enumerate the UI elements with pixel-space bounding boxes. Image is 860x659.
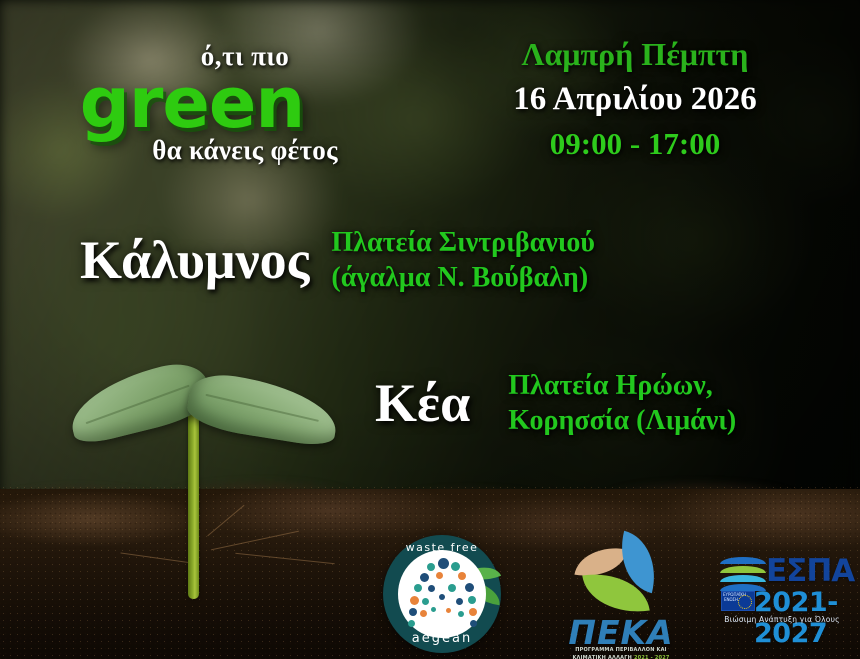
peka-subtitle: ΠΡΟΓΡΑΜΜΑ ΠΕΡΙΒΑΛΛΟΝ ΚΑΙ ΚΛΙΜΑΤΙΚΗ ΑΛΛΑΓ… [555,647,687,659]
peka-subtitle-years: 2021 - 2027 [634,655,670,659]
arch-dot [420,610,427,617]
arch-dot [436,572,443,579]
arch-dot [420,573,429,582]
waste-free-aegean-logo: waste free aegean [383,535,501,653]
arch-dot [431,607,436,612]
peka-subtitle-line-1: ΠΡΟΓΡΑΜΜΑ ΠΕΡΙΒΑΛΛΟΝ ΚΑΙ [555,647,687,655]
arch-dot [456,598,463,605]
arch-dot [410,596,419,605]
espa-wave-icon [720,557,766,591]
logo-bottom-text: aegean [383,631,501,646]
headline-bottom-line: θα κάνεις φέτος [95,135,395,166]
peka-subtitle-text: ΚΛΙΜΑΤΙΚΗ ΑΛΛΑΓΗ [572,655,632,659]
headline-green-word: green [52,62,332,144]
location-name: Κέα [375,372,470,434]
location-address: Πλατεία Σιντριβανιού (άγαλμα Ν. Βούβαλη) [331,225,595,295]
arch-dot [427,563,435,571]
arch-dot [465,583,474,592]
wave-line [720,575,766,582]
peka-subtitle-line-2: ΚΛΙΜΑΤΙΚΗ ΑΛΛΑΓΗ 2021 - 2027 [555,655,687,659]
wave-line [720,557,766,564]
arch-dot [469,608,477,616]
event-poster: ό,τι πιο green θα κάνεις φέτος Λαμπρή Πέ… [0,0,860,659]
espa-wordmark: ΕΣΠΑ [766,553,854,589]
logo-top-text: waste free [383,541,501,554]
arch-dot [446,608,451,613]
event-datetime-block: Λαμπρή Πέμπτη 16 Απριλίου 2026 09:00 - 1… [450,36,820,162]
arch-dot [448,584,456,592]
root-strand [207,504,245,536]
espa-logo: ΕΣΠΑ ΕΥΡΩΠΑΪΚΗ ΕΝΩΣΗ 2021-2027 Βιώσιμη Α… [718,551,846,637]
espa-tagline: Βιώσιμη Ανάπτυξη για Όλους [718,615,846,624]
leaf-vein [86,385,190,424]
location-address-line-2: (άγαλμα Ν. Βούβαλη) [331,260,595,295]
seedling-leaf-right [185,370,342,449]
event-day: Λαμπρή Πέμπτη [450,36,820,73]
wave-line [720,566,766,573]
eu-flag-icon: ΕΥΡΩΠΑΪΚΗ ΕΝΩΣΗ [721,591,755,611]
location-address-line-1: Πλατεία Σιντριβανιού [331,225,595,260]
arch-dot [408,620,415,627]
arch-dot [428,585,435,592]
peka-logo: ΠΕΚΑ ΠΡΟΓΡΑΜΜΑ ΠΕΡΙΒΑΛΛΟΝ ΚΑΙ ΚΛΙΜΑΤΙΚΗ … [555,535,687,657]
arch-dot [414,584,422,592]
arch-dot [409,608,417,616]
location-name: Κάλυμνος [80,229,309,291]
location-address-line-1: Πλατεία Ηρώων, [508,368,736,403]
arch-dot [458,572,466,580]
location-kalymnos: Κάλυμνος Πλατεία Σιντριβανιού (άγαλμα Ν.… [80,225,595,295]
eu-stars-icon [738,595,752,609]
arch-dot [422,598,429,605]
arch-dot [458,611,464,617]
arch-dot [451,562,460,571]
arch-dot [438,558,449,569]
arch-dot [470,620,477,627]
logo-inner-disc [398,550,486,638]
location-address-line-2: Κορησσία (Λιμάνι) [508,403,736,438]
event-date: 16 Απριλίου 2026 [450,81,820,118]
eu-flag-label: ΕΥΡΩΠΑΪΚΗ ΕΝΩΣΗ [723,593,739,607]
location-address: Πλατεία Ηρώων, Κορησσία (Λιμάνι) [508,368,736,438]
peka-leaf-emblem [577,535,661,619]
logo-strip: waste free aegean ΠΕΚΑ ΠΡΟΓΡΑΜΜΑ ΠΕΡΙΒΑΛ… [0,534,860,659]
leaf-vein [206,394,319,422]
arch-dot [468,596,476,604]
arch-dot [439,594,445,600]
event-time: 09:00 - 17:00 [450,126,820,162]
location-kea: Κέα Πλατεία Ηρώων, Κορησσία (Λιμάνι) [375,368,736,438]
